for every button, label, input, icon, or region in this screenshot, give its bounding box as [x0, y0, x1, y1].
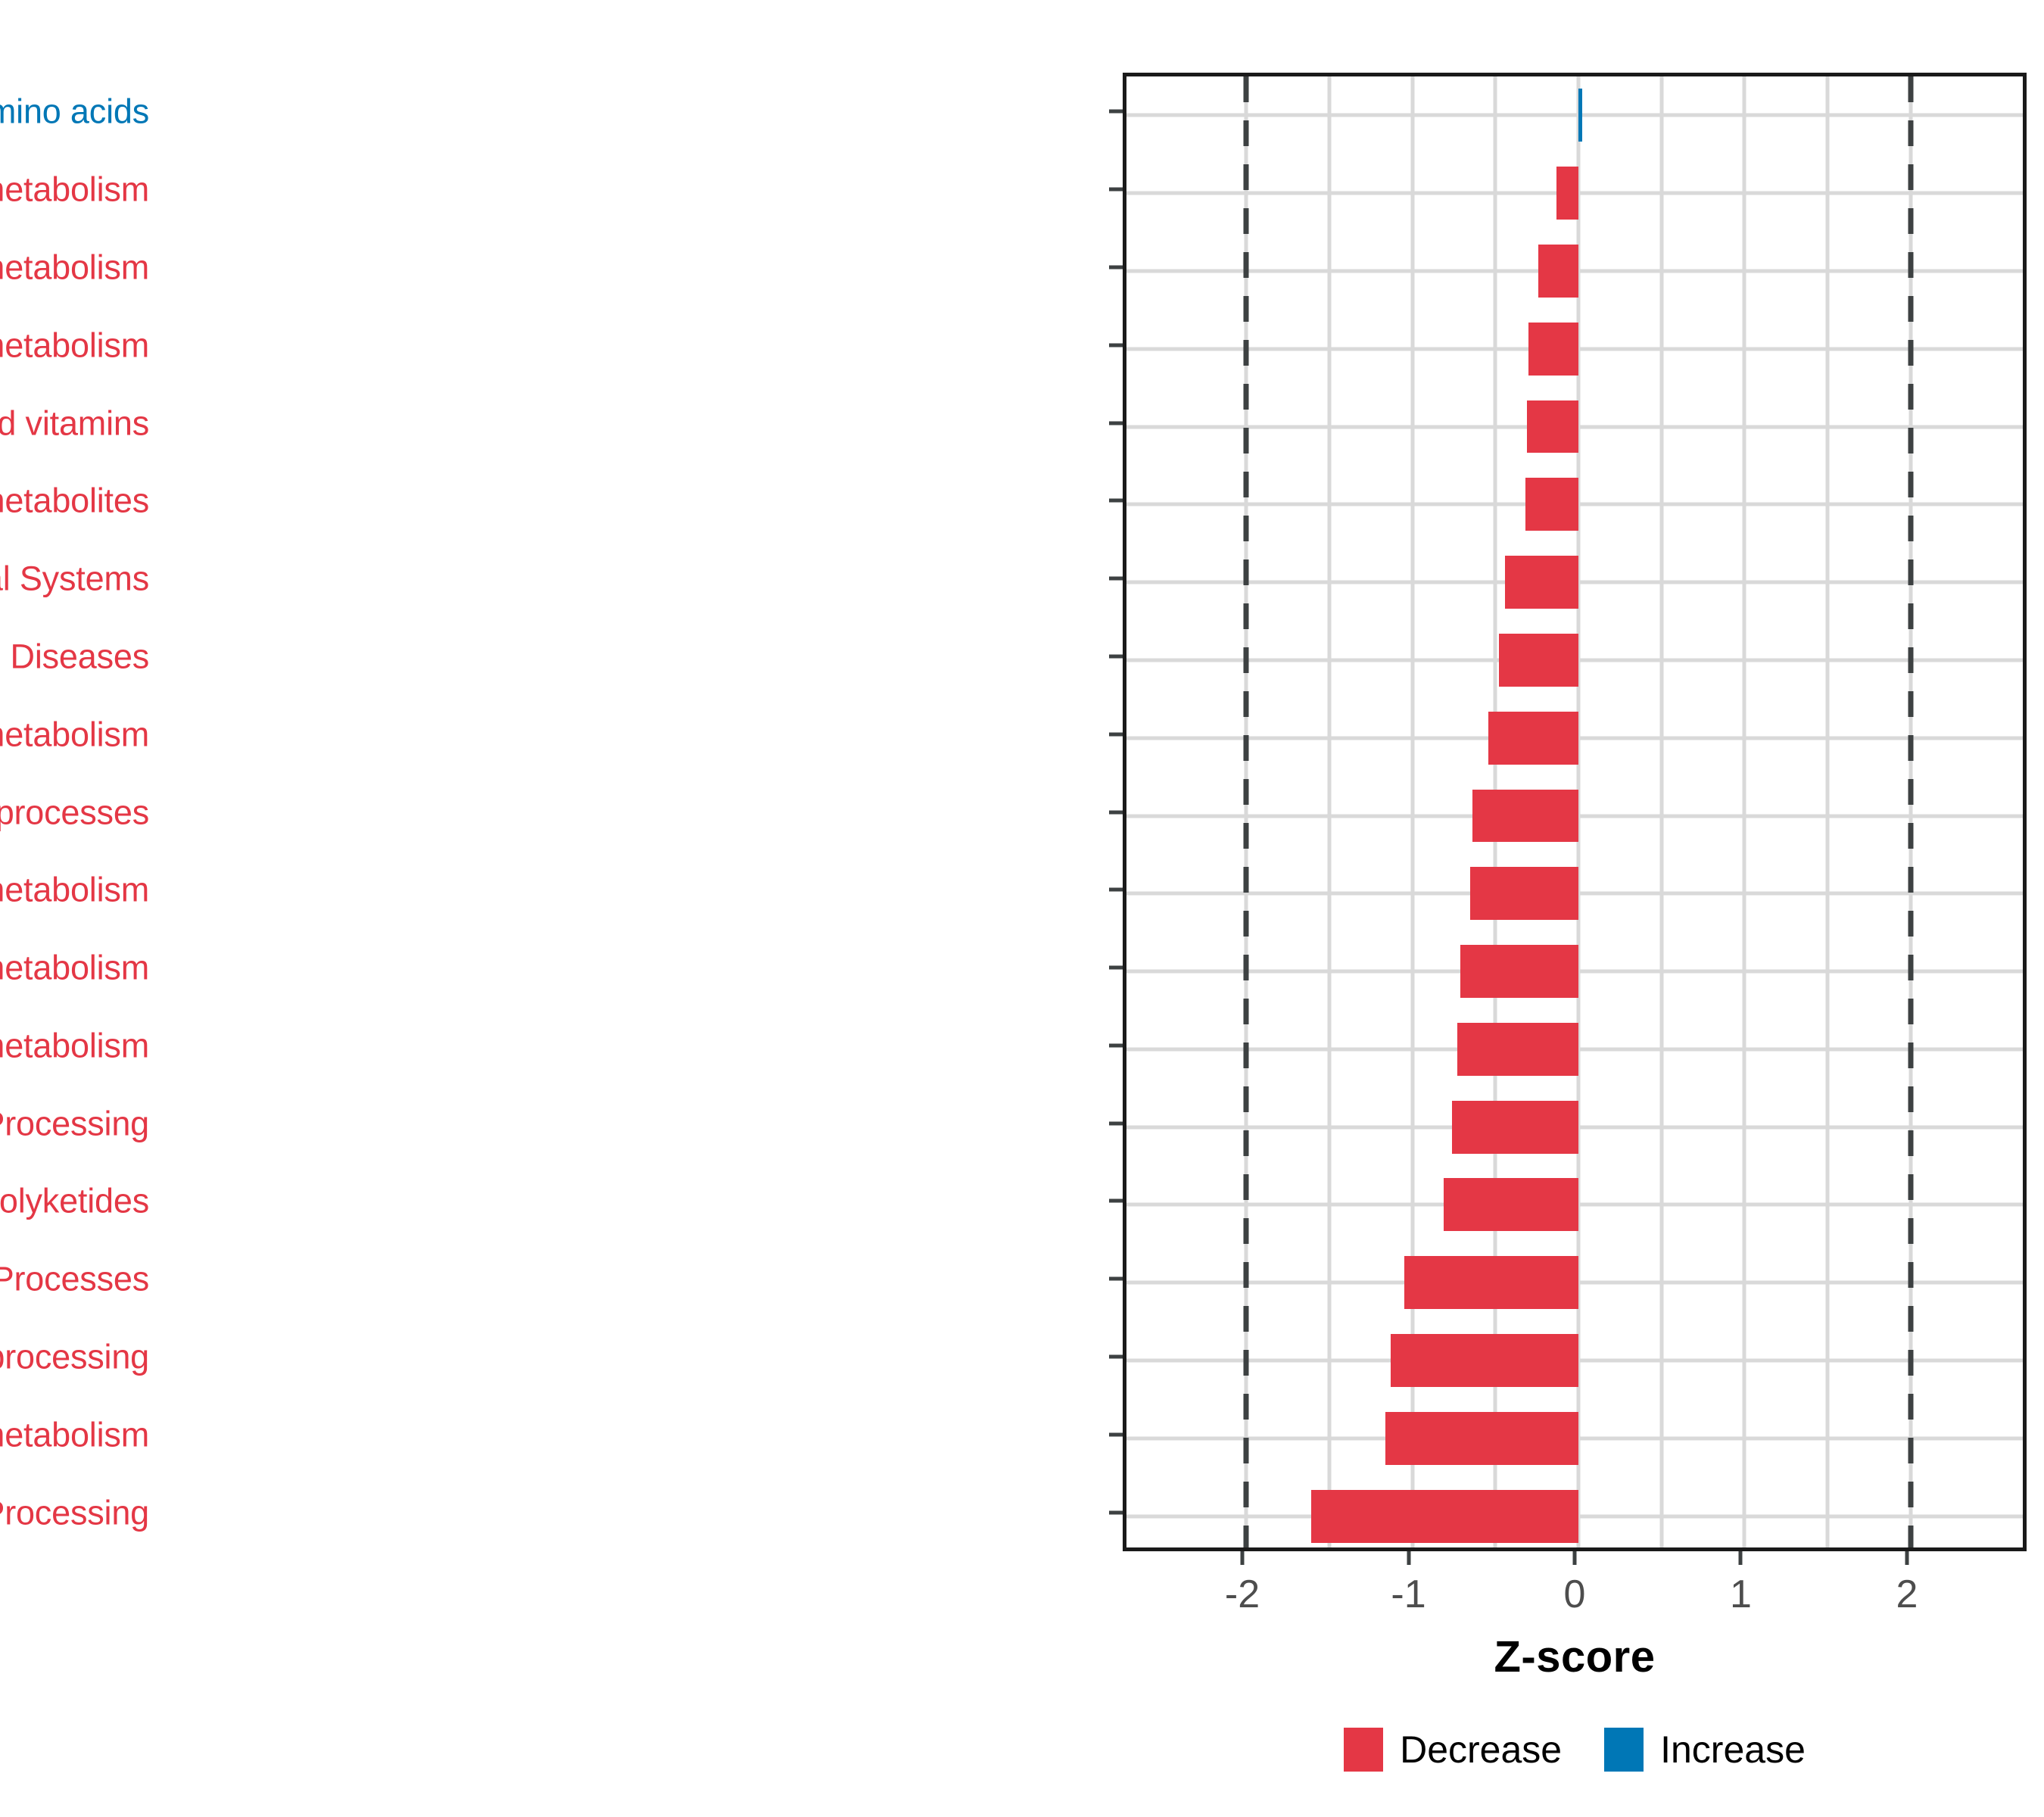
y-axis-label: Cellular Processes — [0, 1262, 149, 1296]
legend-item[interactable]: Decrease — [1344, 1728, 1562, 1772]
y-axis-tick — [1109, 1043, 1123, 1047]
y-axis-tick — [1109, 1432, 1123, 1436]
reference-line — [1244, 76, 1249, 1547]
y-axis-label: Metabolism of cofactors and vitamins — [0, 406, 149, 440]
y-axis-label: Protein families: signaling and cellular… — [0, 795, 149, 829]
y-axis-tick — [1109, 265, 1123, 269]
x-axis-tick-label: 1 — [1730, 1572, 1752, 1617]
x-axis-tick — [1905, 1551, 1908, 1565]
legend-swatch-decrease — [1344, 1728, 1383, 1772]
x-axis-tick — [1573, 1551, 1577, 1565]
plot-panel — [1123, 73, 2027, 1551]
legend-label: Decrease — [1400, 1728, 1562, 1772]
y-axis-tick — [1109, 110, 1123, 114]
y-axis-label: Xenobiotics biodegradation and metabolis… — [0, 173, 149, 207]
x-axis-tick-label: 2 — [1896, 1572, 1918, 1617]
y-axis-label: Energy metabolism — [0, 328, 149, 362]
y-axis-tick — [1109, 577, 1123, 581]
y-axis-tick — [1109, 421, 1123, 425]
y-axis-label: Lipid metabolism — [0, 250, 149, 284]
y-axis-tick — [1109, 966, 1123, 970]
y-axis-label: Protein families: genetic information pr… — [0, 1340, 149, 1374]
y-axis-tick — [1109, 343, 1123, 347]
y-axis-label: Metabolism of other amino acids — [0, 95, 149, 129]
y-axis-tick — [1109, 810, 1123, 814]
y-axis-label: Environmental Information Processing — [0, 1106, 149, 1140]
x-axis-tick-label: 0 — [1564, 1572, 1586, 1617]
y-axis-label: Amino acid metabolism — [0, 717, 149, 751]
y-axis-tick — [1109, 654, 1123, 658]
x-axis-title: Z-score — [1123, 1632, 2027, 1682]
y-axis-tick — [1109, 1510, 1123, 1514]
y-axis-label: Genetic Information Processing — [0, 1495, 149, 1529]
legend-swatch-increase — [1604, 1728, 1644, 1772]
x-axis-tick — [1407, 1551, 1410, 1565]
figure-canvas: Metabolism of other amino acidsXenobioti… — [0, 0, 2044, 1817]
x-axis-tick — [1241, 1551, 1245, 1565]
y-axis-label: Protein families: metabolism — [0, 951, 149, 985]
x-axis-tick-label: -2 — [1225, 1572, 1260, 1617]
y-axis-label: Nucleotide metabolism — [0, 873, 149, 907]
x-axis-tick — [1739, 1551, 1743, 1565]
y-axis-tick — [1109, 1121, 1123, 1125]
legend-item[interactable]: Increase — [1604, 1728, 1806, 1772]
y-axis-label: Organismal Systems — [0, 562, 149, 596]
y-axis-tick — [1109, 188, 1123, 192]
y-axis-label: Carbohydrate metabolism — [0, 1028, 149, 1062]
y-axis-tick — [1109, 1355, 1123, 1359]
chart-legend: DecreaseIncrease — [1123, 1728, 2027, 1772]
y-axis-label: Metabolism of terpenoids and polyketides — [0, 1184, 149, 1218]
reference-line-layer — [1126, 76, 2023, 1547]
x-axis-tick-label: -1 — [1391, 1572, 1426, 1617]
y-axis-label-group: Metabolism of other amino acidsXenobioti… — [0, 73, 1090, 1551]
y-axis-label: Glycan biosynthesis and metabolism — [0, 1417, 149, 1451]
y-axis-tick — [1109, 888, 1123, 892]
y-axis-label: Human Diseases — [0, 639, 149, 673]
y-axis-tick — [1109, 732, 1123, 736]
legend-label: Increase — [1660, 1728, 1806, 1772]
y-axis-tick — [1109, 1199, 1123, 1203]
y-axis-label: Biosynthesis of other secondary metaboli… — [0, 484, 149, 518]
y-axis-tick — [1109, 499, 1123, 503]
reference-line — [1908, 76, 1913, 1547]
y-axis-tick — [1109, 1277, 1123, 1281]
